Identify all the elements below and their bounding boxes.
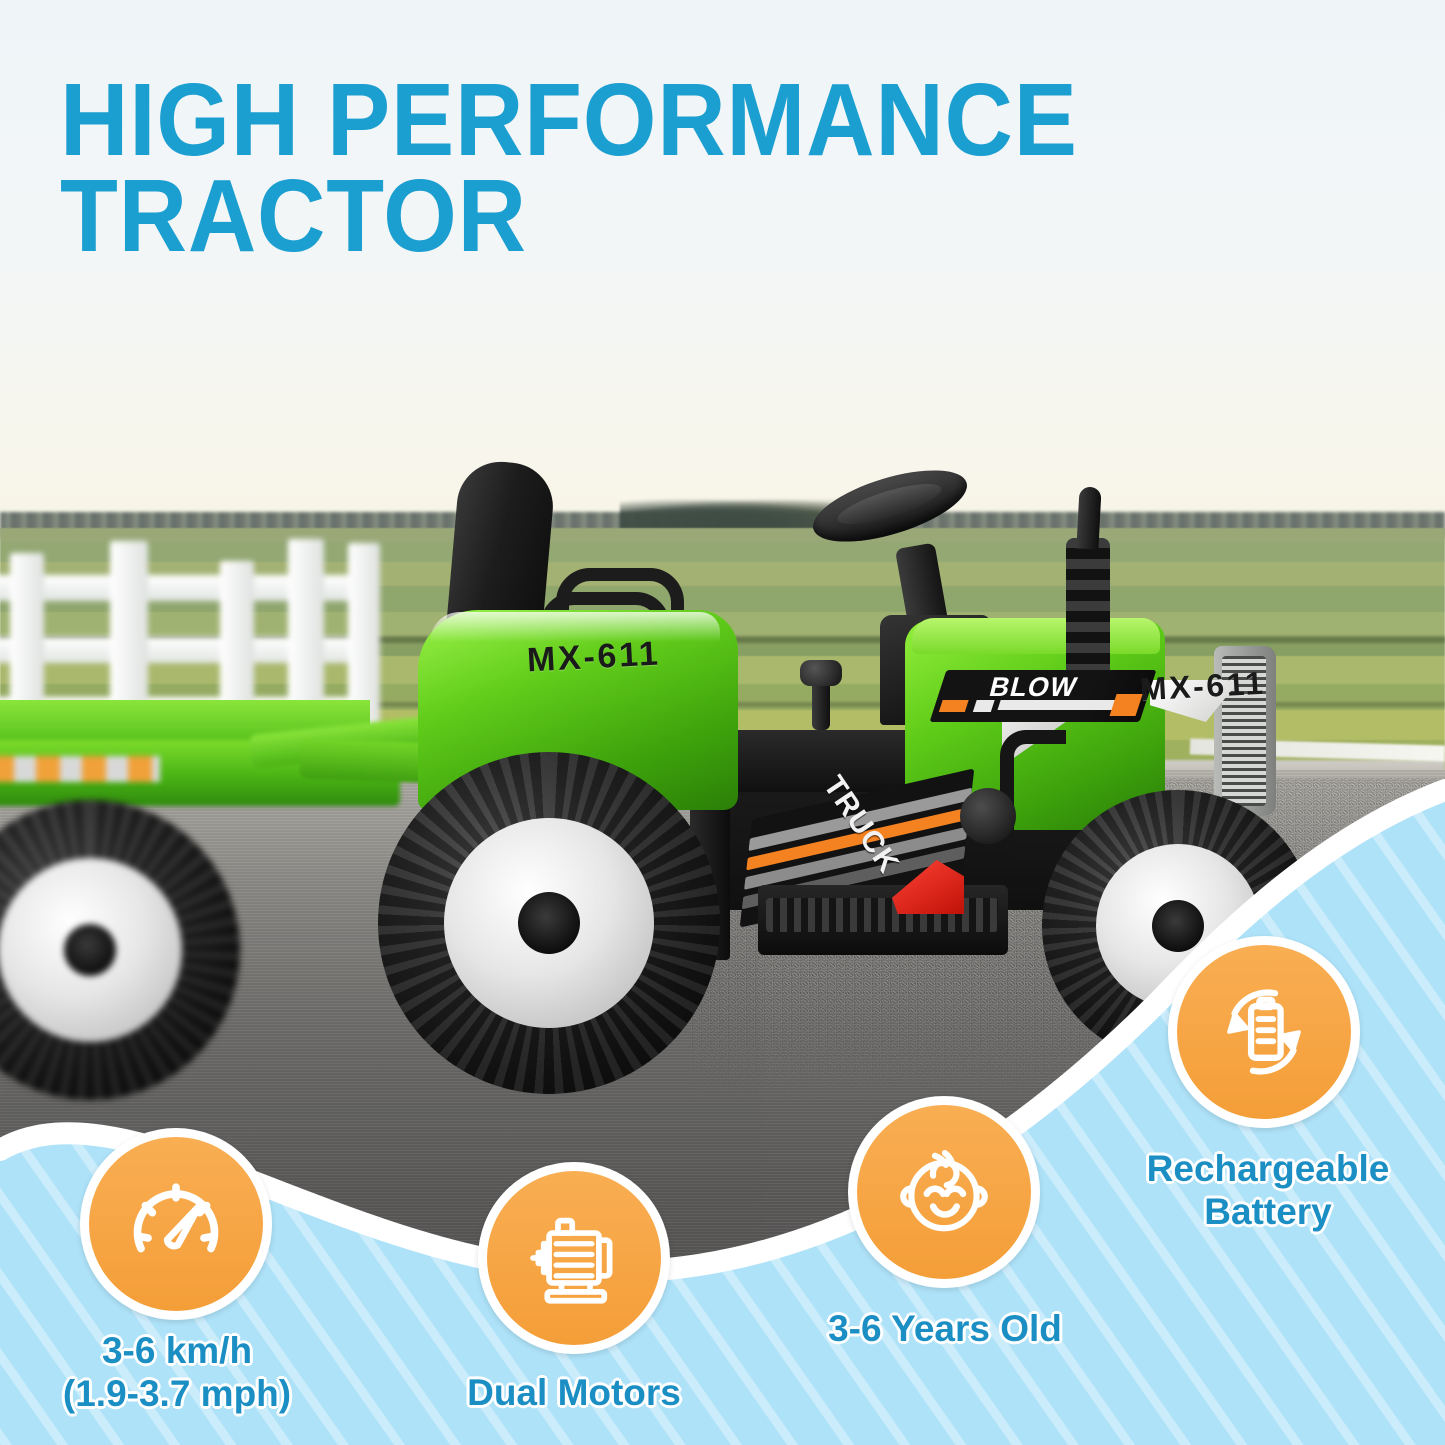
rechargeable-battery-icon [1168, 936, 1360, 1128]
feature-age-label: 3-6 Years Old [790, 1308, 1100, 1351]
feature-motors-label: Dual Motors [424, 1372, 724, 1415]
exhaust-tip [1076, 486, 1101, 549]
rear-wheel [378, 752, 720, 1094]
headline-line-1: HIGH PERFORMANCE [60, 72, 1127, 168]
headline-line-2: TRACTOR [60, 168, 1127, 264]
baby-face-icon [848, 1096, 1040, 1288]
speedometer-icon [80, 1128, 272, 1320]
brand-decal-label: BLOW [986, 672, 1081, 703]
hood-model-decal: MX-611 [1139, 665, 1266, 709]
fender-model-decal: MX-611 [526, 635, 661, 681]
trailer-stripe-decal [0, 756, 160, 782]
hub-knob [960, 788, 1016, 844]
fender-highlight [430, 612, 720, 642]
feature-battery-label: Rechargeable Battery [1108, 1148, 1428, 1234]
hood-highlight [912, 618, 1160, 654]
headline: HIGH PERFORMANCE TRACTOR [60, 72, 1220, 264]
side-hand-rail [1000, 730, 1066, 860]
gear-knob [800, 660, 842, 686]
product-banner: MX-611 BLOW MX-611 TRUCK [0, 0, 1445, 1445]
feature-speed-label: 3-6 km/h (1.9-3.7 mph) [22, 1330, 332, 1416]
steering-wheel [805, 456, 974, 556]
electric-motor-icon [478, 1162, 670, 1354]
